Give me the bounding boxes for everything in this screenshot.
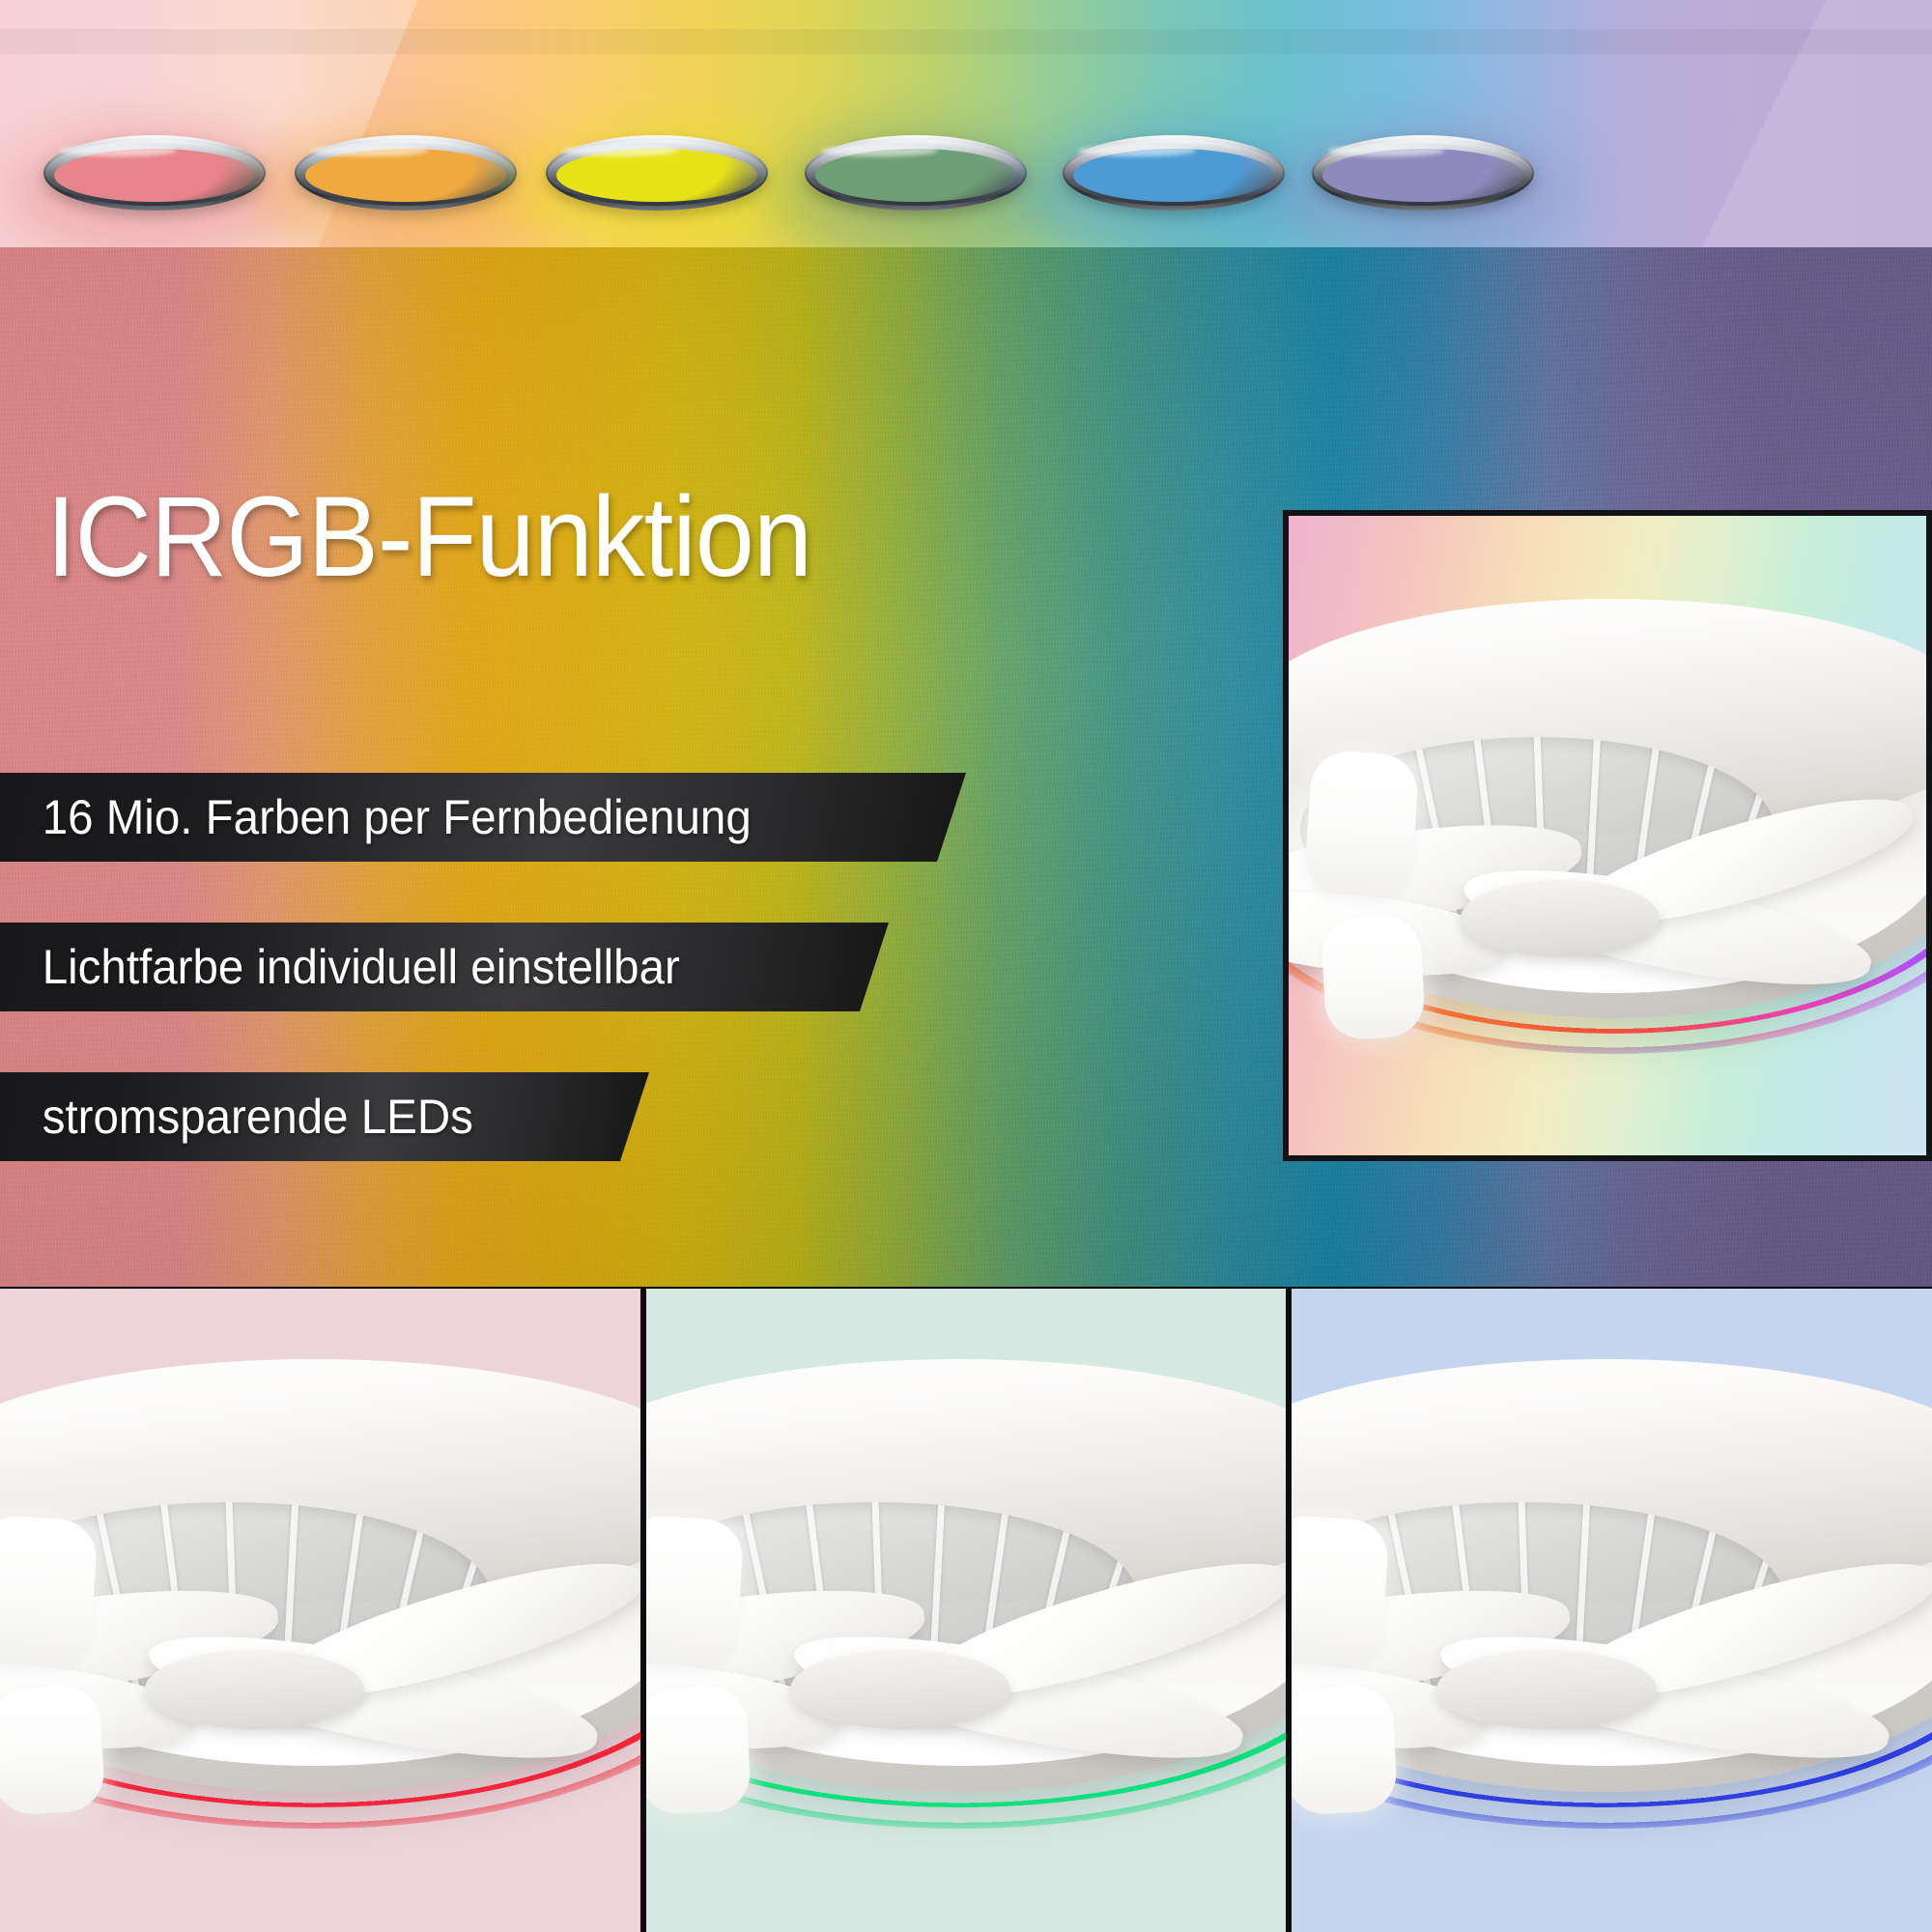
- tile-background: [646, 1289, 1287, 1932]
- feature-band-leds: stromsparende LEDs: [0, 1072, 649, 1161]
- ceiling-shadow-line: [0, 29, 1932, 54]
- lamp-face: [1073, 149, 1274, 202]
- tile-background: [0, 1289, 640, 1932]
- page-title: ICRGB-Funktion: [46, 480, 811, 594]
- hero-inset-background: [1289, 516, 1926, 1155]
- lamp-face: [54, 149, 255, 202]
- fan-blue: [1292, 1289, 1932, 1932]
- lamp-gloss: [561, 145, 679, 156]
- lamp-face: [556, 149, 757, 202]
- feature-band-colors: 16 Mio. Farben per Fernbedienung: [0, 773, 966, 862]
- lamp-gloss: [1327, 145, 1445, 156]
- ceiling-panel-strip: [0, 0, 1932, 247]
- hero-inset-photo: [1283, 510, 1932, 1161]
- panel-lamp-blue: [1063, 135, 1285, 211]
- tile-background: [1292, 1289, 1932, 1932]
- panel-lamp-orange: [295, 135, 517, 211]
- panel-lamp-green: [805, 135, 1027, 211]
- feature-band-adjustable-label: Lichtfarbe individuell einstellbar: [0, 939, 680, 995]
- lamp-face: [1322, 149, 1523, 202]
- lamp-face: [305, 149, 506, 202]
- feature-band-leds-label: stromsparende LEDs: [0, 1089, 473, 1145]
- lamp-gloss: [1078, 145, 1196, 156]
- fan-green: [646, 1289, 1287, 1932]
- product-marketing-image: ICRGB-Funktion 16 Mio. Farben per Fernbe…: [0, 0, 1932, 1932]
- panel-lamp-yellow: [546, 135, 768, 211]
- fan-red: [0, 1289, 640, 1932]
- lamp-gloss: [310, 145, 428, 156]
- lamp-face: [815, 149, 1016, 202]
- lamp-gloss: [59, 145, 177, 156]
- feature-band-colors-label: 16 Mio. Farben per Fernbedienung: [0, 789, 752, 845]
- color-variant-triptych: [0, 1289, 1932, 1932]
- panel-lamp-purple: [1312, 135, 1534, 211]
- feature-band-adjustable: Lichtfarbe individuell einstellbar: [0, 923, 889, 1011]
- panel-lamp-pink: [43, 135, 266, 211]
- lamp-gloss: [820, 145, 938, 156]
